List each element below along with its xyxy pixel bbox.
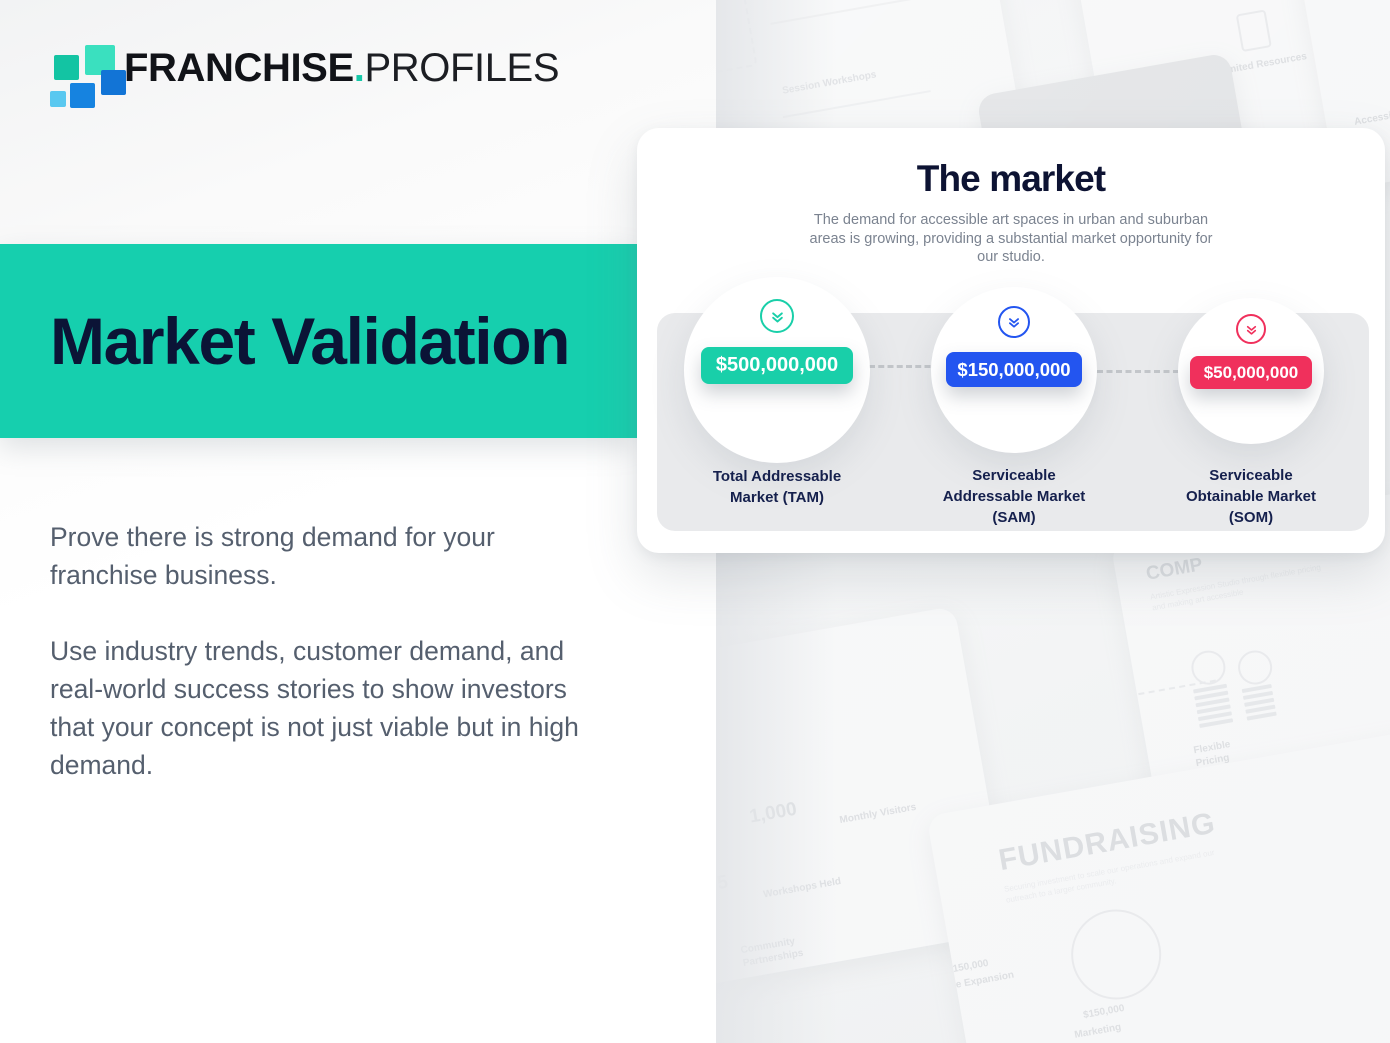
brand-logo[interactable]: FRANCHISE.PROFILES [48,42,559,94]
tier-value-badge[interactable]: $50,000,000 [1190,356,1312,389]
tier-caption-line2: Obtainable Market [1186,488,1316,505]
double-chevron-down-icon[interactable] [998,306,1030,338]
double-chevron-down-icon[interactable] [760,299,794,333]
brand-name-bold: FRANCHISE [124,46,354,90]
tier-caption-line1: Serviceable [1209,467,1292,484]
market-tiers: $500,000,000 Total Addressable Market (T… [637,128,1385,553]
tier-caption-line3: (SOM) [1229,509,1273,526]
squares-logo-icon [48,42,110,94]
tier-value-badge[interactable]: $500,000,000 [701,347,853,384]
left-panel: FRANCHISE.PROFILES Market Validation Pro… [0,0,716,1043]
tier-caption-line2: Market (TAM) [730,489,824,506]
tier-value-label: $50,000,000 [1204,363,1299,383]
double-chevron-down-icon[interactable] [1236,314,1266,344]
page-title: Market Validation [0,308,569,374]
brand-name-light: PROFILES [364,46,559,90]
tier-value-label: $150,000,000 [957,359,1070,381]
tier-caption-line1: Serviceable [972,467,1055,484]
tier-caption-line3: (SAM) [992,509,1035,526]
brand-name-dot: . [354,46,365,90]
tier-value-badge[interactable]: $150,000,000 [946,352,1082,387]
body-paragraph-1: Prove there is strong demand for your fr… [50,518,590,594]
body-paragraph-2: Use industry trends, customer demand, an… [50,632,590,784]
tier-caption: Total Addressable Market (TAM) [713,466,841,508]
connector-sam-som [1097,370,1179,373]
tier-caption: Serviceable Addressable Market (SAM) [943,465,1086,528]
tier-caption-line1: Total Addressable [713,468,841,485]
tier-caption-line2: Addressable Market [943,488,1086,505]
tier-caption: Serviceable Obtainable Market (SOM) [1186,465,1316,528]
hero-title-banner: Market Validation [0,244,637,438]
body-copy: Prove there is strong demand for your fr… [50,518,590,784]
market-card: The market The demand for accessible art… [637,128,1385,553]
tier-value-label: $500,000,000 [716,354,838,377]
brand-wordmark: FRANCHISE.PROFILES [124,48,559,88]
